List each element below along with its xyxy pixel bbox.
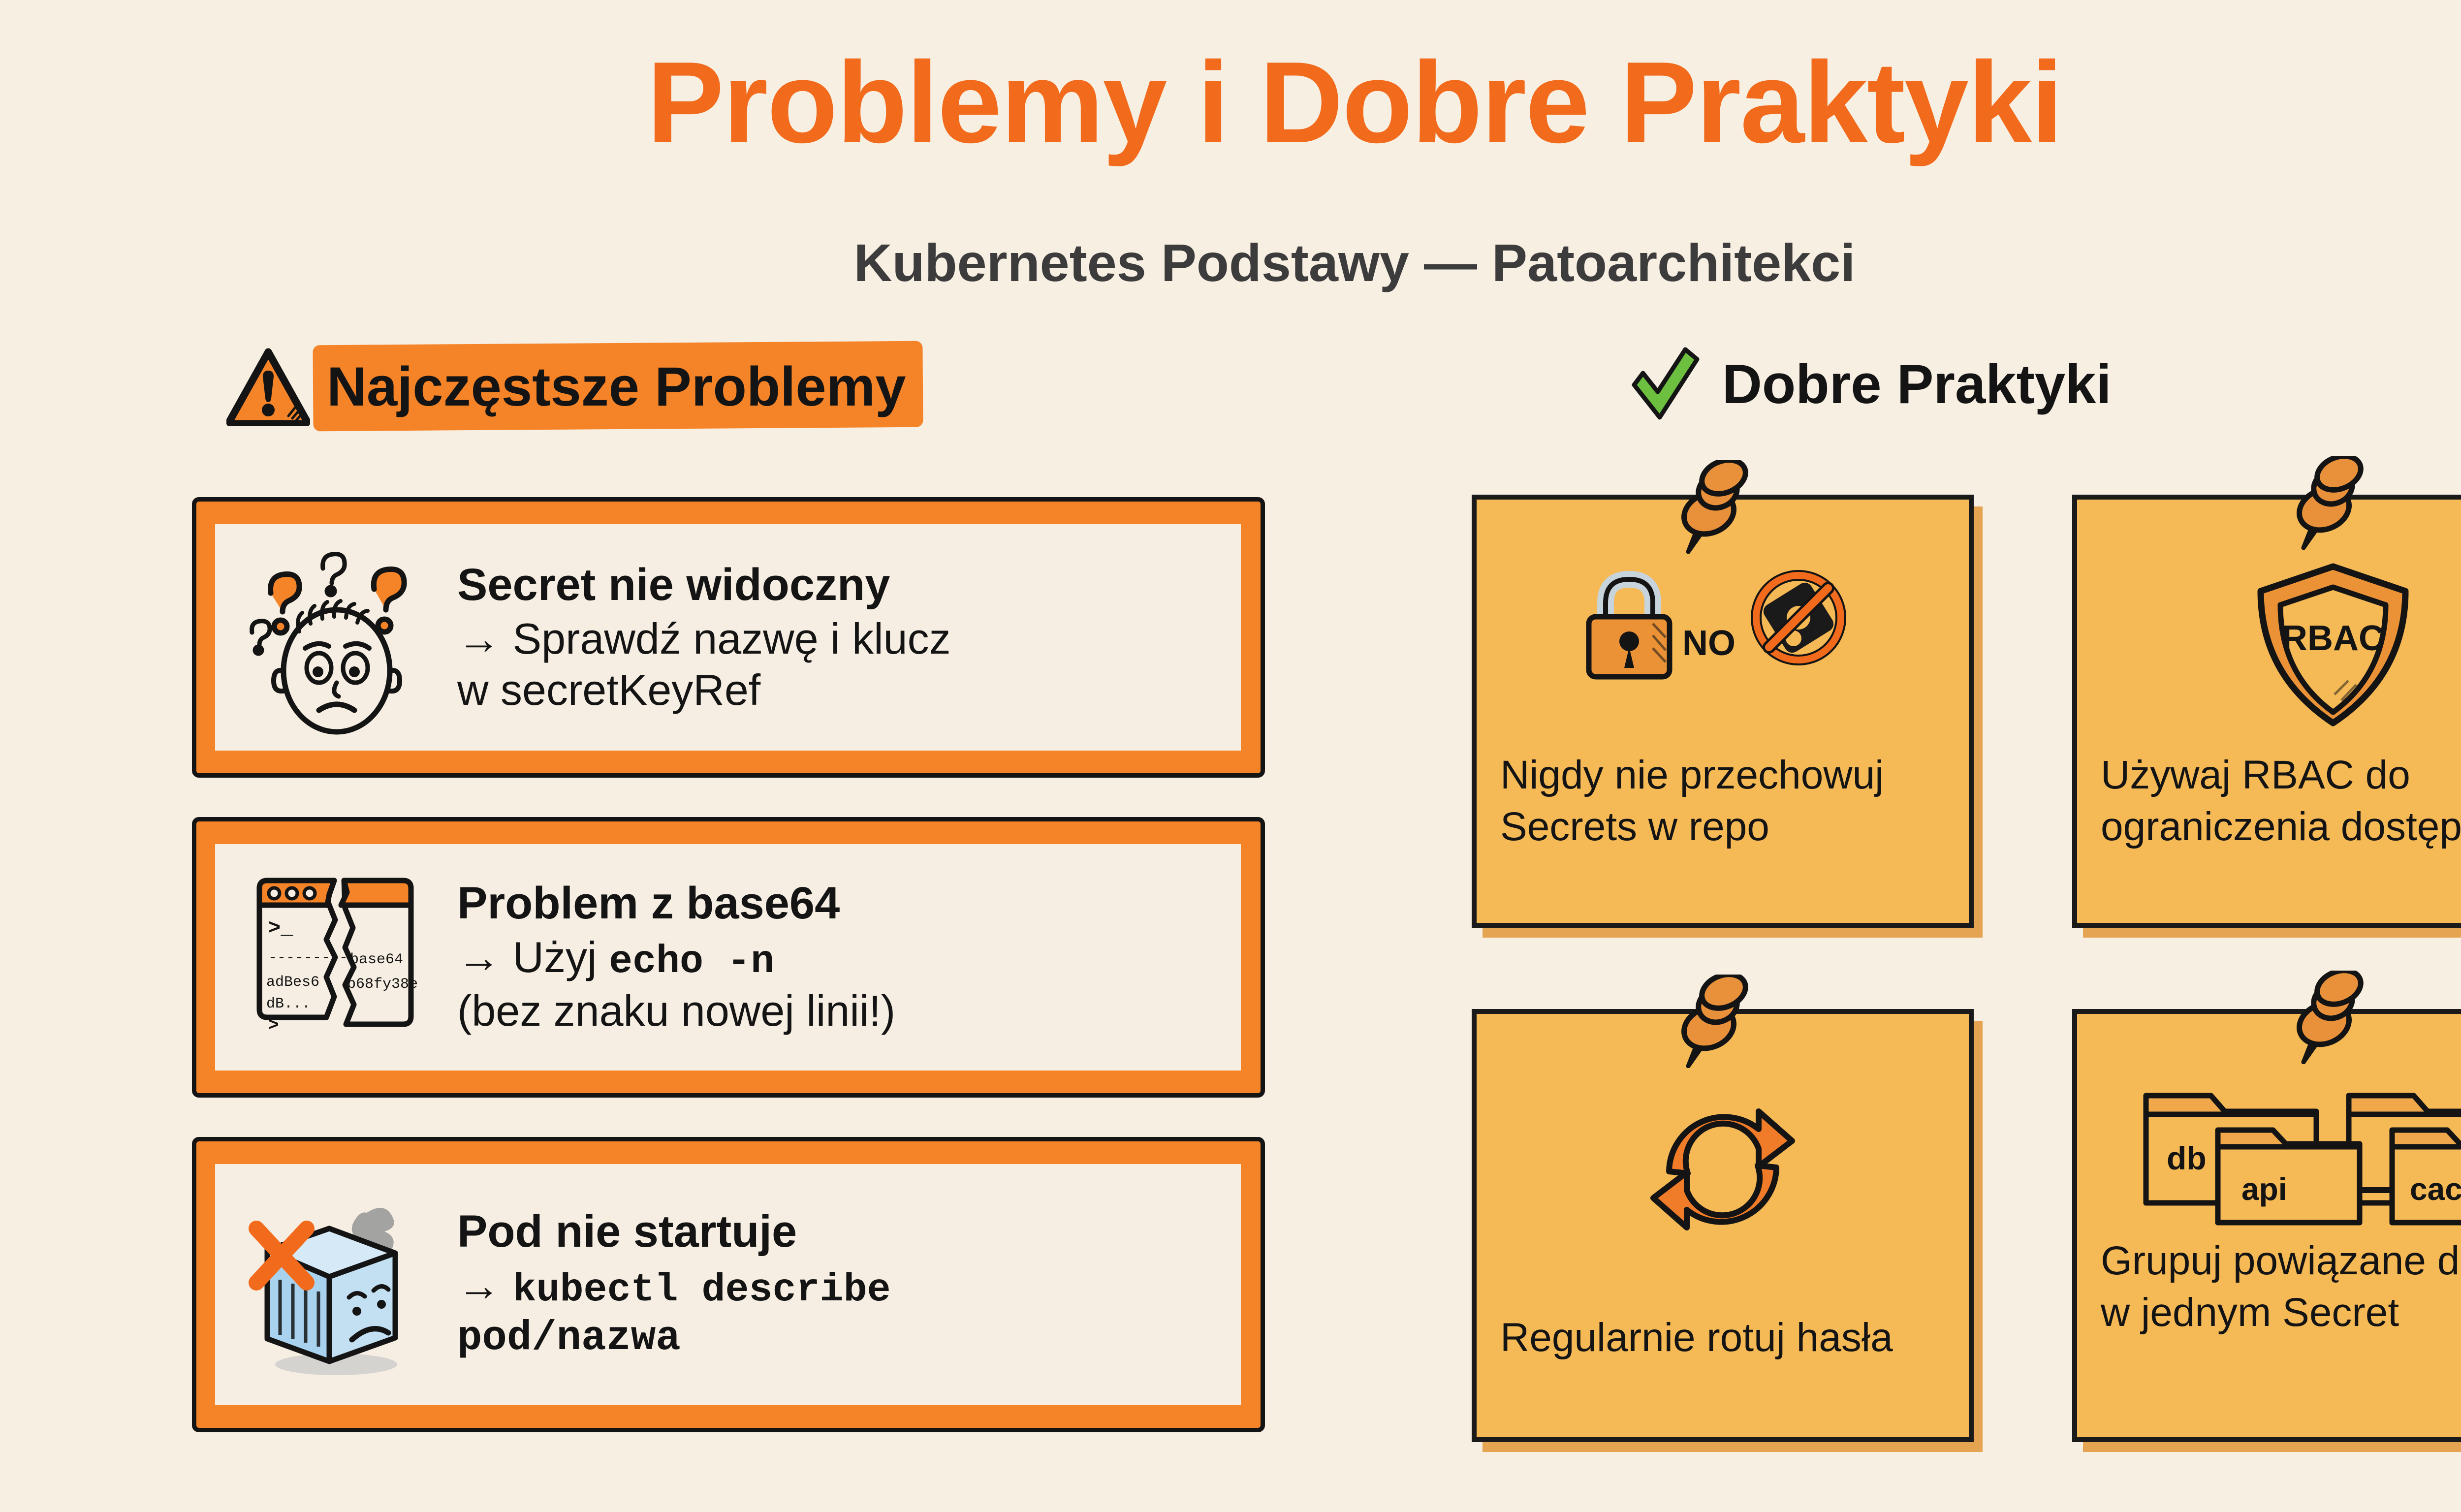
page-subtitle: Kubernetes Podstawy — Patoarchitekci [0,236,2461,289]
problem-card-2-text: Problem z base64 → Użyj echo -n (bez zna… [444,878,1228,1037]
kubectl-describe-code: kubectl describe [512,1268,890,1313]
practice-note-4-body: db api cache [2072,1009,2461,1442]
pushpin-icon [2284,971,2367,1064]
problem-card-3-line2: → kubectl describe [457,1260,1228,1314]
rotate-arrows-icon [1500,1088,1945,1265]
practice-note-4-text: Grupuj powiązane dane w jednym Secret [2101,1235,2461,1339]
practice-note-2-text: Używaj RBAC do ograniczenia dostępu [2101,750,2461,853]
problem-card-3-line3: pod/nazwa [457,1314,1228,1363]
confused-face-icon [228,539,444,736]
problem-card-3-title: Pod nie startuje [457,1206,1228,1257]
torn-terminal-icon: >_ --------- adBes6 dB... > base64 b68fy… [228,859,444,1056]
terminal-dashes: --------- [268,949,348,966]
problem-card-1-line3: w secretKeyRef [457,664,1228,716]
problem-card-2-line3: (bez znaku nowej linii!) [457,985,1228,1037]
page-title: Problemy i Dobre Praktyki [0,44,2461,160]
practice-note-3-body: Regularnie rotuj hasła [1472,1009,1974,1442]
infographic-page: Problemy i Dobre Praktyki Kubernetes Pod… [0,0,2461,1512]
problem-card-1-line2: → Sprawdź nazwę i klucz [457,613,1228,664]
problem-card-1-inner: Secret nie widoczny → Sprawdź nazwę i kl… [215,524,1241,751]
practice-note-2-body: RBAC Używaj RBAC do ograniczenia dostępu [2072,495,2461,928]
practice-note-3-text: Regularnie rotuj hasła [1500,1312,1945,1364]
rbac-shield-label: RBAC [2282,619,2384,658]
green-check-icon [1624,345,1705,423]
terminal-prompt-1: >_ [268,916,293,940]
terminal-right-2: b68fy38e [347,976,418,993]
problem-card-2-line2: → Użyj echo -n [457,932,1228,985]
practice-note-1-body: NO Nigdy nie przechowuj Secr [1472,495,1974,928]
problem-card-3-inner: Pod nie startuje → kubectl describe pod/… [215,1164,1241,1405]
echo-command-code: echo -n [609,940,774,984]
problems-section-heading: Najczęstsze Problemy [226,347,906,426]
terminal-right-1: base64 [350,951,403,968]
practice-note-2: RBAC Używaj RBAC do ograniczenia dostępu [2072,495,2461,928]
pushpin-icon [2284,456,2367,550]
grouped-folders-icon: db api cache [2101,1069,2461,1227]
problem-card-2-inner: >_ --------- adBes6 dB... > base64 b68fy… [215,844,1241,1071]
practices-heading-label: Dobre Praktyki [1722,352,2112,416]
folder-label-api: api [2241,1171,2287,1207]
problem-card-3: Pod nie startuje → kubectl describe pod/… [192,1137,1265,1432]
practices-section-heading: Dobre Praktyki [1624,345,2112,423]
problem-card-2: >_ --------- adBes6 dB... > base64 b68fy… [192,817,1265,1098]
folder-label-db: db [2167,1140,2207,1176]
terminal-left-1: adBes6 [266,974,319,991]
problems-heading-label: Najczęstsze Problemy [327,355,906,418]
folder-label-cache: cache [2410,1171,2461,1207]
warning-triangle-icon [226,347,310,426]
terminal-prompt-2: > [268,1015,279,1036]
problem-card-3-text: Pod nie startuje → kubectl describe pod/… [444,1206,1228,1363]
practice-note-1: NO Nigdy nie przechowuj Secr [1472,495,1974,928]
practice-note-3: Regularnie rotuj hasła [1472,1009,1974,1442]
rbac-shield-icon: RBAC [2101,559,2461,736]
no-badge-label: NO [1682,624,1735,663]
problem-card-1-title: Secret nie widoczny [457,560,1228,610]
padlock-no-repo-icon: NO [1500,559,1945,736]
terminal-left-2: dB... [266,996,311,1012]
problem-card-1-text: Secret nie widoczny → Sprawdź nazwę i kl… [444,560,1228,716]
broken-container-icon [228,1181,444,1388]
practice-note-1-text: Nigdy nie przechowuj Secrets w repo [1500,750,1945,853]
problem-card-2-title: Problem z base64 [457,878,1228,929]
pushpin-icon [1669,975,1752,1068]
problem-card-1: Secret nie widoczny → Sprawdź nazwę i kl… [192,497,1265,778]
pushpin-icon [1669,460,1752,554]
practice-note-4: db api cache [2072,1009,2461,1442]
